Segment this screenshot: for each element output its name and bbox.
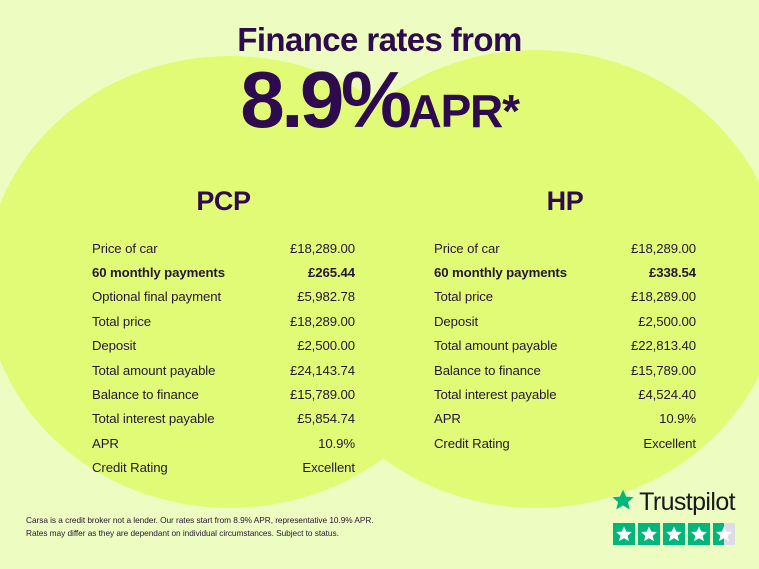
table-row: Credit RatingExcellent [92, 455, 355, 479]
disclaimer-line-1: Carsa is a credit broker not a lender. O… [26, 514, 446, 527]
row-value: £18,289.00 [290, 314, 355, 329]
row-label: 60 monthly payments [434, 265, 567, 280]
row-label: Total interest payable [92, 411, 214, 426]
plan-rows-hp: Price of car£18,289.00 60 monthly paymen… [434, 236, 696, 455]
row-label: Price of car [434, 241, 500, 256]
table-row: Optional final payment£5,982.78 [92, 285, 355, 309]
plan-columns: PCP Price of car£18,289.00 60 monthly pa… [0, 186, 759, 480]
table-row: Deposit£2,500.00 [434, 309, 696, 333]
row-label: Optional final payment [92, 289, 221, 304]
row-value: £338.54 [649, 265, 696, 280]
headline-rate: 8.9%APR* [0, 58, 759, 140]
row-value: £265.44 [308, 265, 355, 280]
trustpilot-logo: Trustpilot [611, 488, 735, 517]
row-label: Total amount payable [92, 363, 215, 378]
row-label: Total price [434, 289, 493, 304]
table-row: Total interest payable£4,524.40 [434, 382, 696, 406]
row-value: £2,500.00 [638, 314, 696, 329]
row-value: 10.9% [659, 411, 696, 426]
row-value: £5,854.74 [297, 411, 355, 426]
table-row: Total price£18,289.00 [92, 309, 355, 333]
row-value: £2,500.00 [297, 338, 355, 353]
table-row: 60 monthly payments£265.44 [92, 260, 355, 284]
table-row: APR10.9% [434, 407, 696, 431]
plan-column-hp: HP Price of car£18,289.00 60 monthly pay… [379, 186, 758, 480]
table-row: 60 monthly payments£338.54 [434, 260, 696, 284]
star-half-icon [713, 523, 735, 545]
row-label: Price of car [92, 241, 158, 256]
table-row: Deposit£2,500.00 [92, 334, 355, 358]
rate-unit: APR* [409, 85, 519, 137]
row-label: APR [92, 436, 119, 451]
row-value: £18,289.00 [290, 241, 355, 256]
row-value: Excellent [302, 460, 355, 475]
row-label: Balance to finance [92, 387, 199, 402]
row-value: £22,813.40 [631, 338, 696, 353]
table-row: Total price£18,289.00 [434, 285, 696, 309]
plan-rows-pcp: Price of car£18,289.00 60 monthly paymen… [92, 236, 355, 480]
trustpilot-star-rating [611, 523, 735, 545]
row-label: Total amount payable [434, 338, 557, 353]
row-value: £15,789.00 [631, 363, 696, 378]
table-row: APR10.9% [92, 431, 355, 455]
disclaimer-text: Carsa is a credit broker not a lender. O… [26, 514, 446, 539]
row-value: £4,524.40 [638, 387, 696, 402]
row-value: £18,289.00 [631, 289, 696, 304]
table-row: Balance to finance£15,789.00 [434, 358, 696, 382]
row-label: Total interest payable [434, 387, 556, 402]
disclaimer-line-2: Rates may differ as they are dependant o… [26, 527, 446, 540]
row-value: £24,143.74 [290, 363, 355, 378]
trustpilot-rating[interactable]: Trustpilot [611, 488, 735, 545]
page-title: Finance rates from [0, 0, 759, 58]
row-value: Excellent [643, 436, 696, 451]
star-icon [688, 523, 710, 545]
table-row: Total amount payable£24,143.74 [92, 358, 355, 382]
row-label: Deposit [434, 314, 478, 329]
row-value: £5,982.78 [297, 289, 355, 304]
row-label: Total price [92, 314, 151, 329]
row-label: Credit Rating [92, 460, 168, 475]
plan-title-pcp: PCP [92, 186, 355, 217]
row-label: 60 monthly payments [92, 265, 225, 280]
table-row: Total interest payable£5,854.74 [92, 407, 355, 431]
plan-title-hp: HP [434, 186, 696, 217]
star-icon [613, 523, 635, 545]
rate-value: 8.9% [240, 55, 408, 144]
table-row: Total amount payable£22,813.40 [434, 334, 696, 358]
star-icon [663, 523, 685, 545]
row-label: Credit Rating [434, 436, 510, 451]
table-row: Credit RatingExcellent [434, 431, 696, 455]
table-row: Price of car£18,289.00 [92, 236, 355, 260]
table-row: Balance to finance£15,789.00 [92, 382, 355, 406]
trustpilot-wordmark: Trustpilot [639, 490, 735, 515]
plan-column-pcp: PCP Price of car£18,289.00 60 monthly pa… [0, 186, 379, 480]
star-icon [638, 523, 660, 545]
finance-rates-poster: Finance rates from 8.9%APR* PCP Price of… [0, 0, 759, 569]
row-label: APR [434, 411, 461, 426]
trustpilot-star-icon [611, 488, 635, 517]
row-value: 10.9% [318, 436, 355, 451]
table-row: Price of car£18,289.00 [434, 236, 696, 260]
row-label: Deposit [92, 338, 136, 353]
poster-header: Finance rates from 8.9%APR* [0, 0, 759, 140]
row-value: £18,289.00 [631, 241, 696, 256]
row-label: Balance to finance [434, 363, 541, 378]
row-value: £15,789.00 [290, 387, 355, 402]
